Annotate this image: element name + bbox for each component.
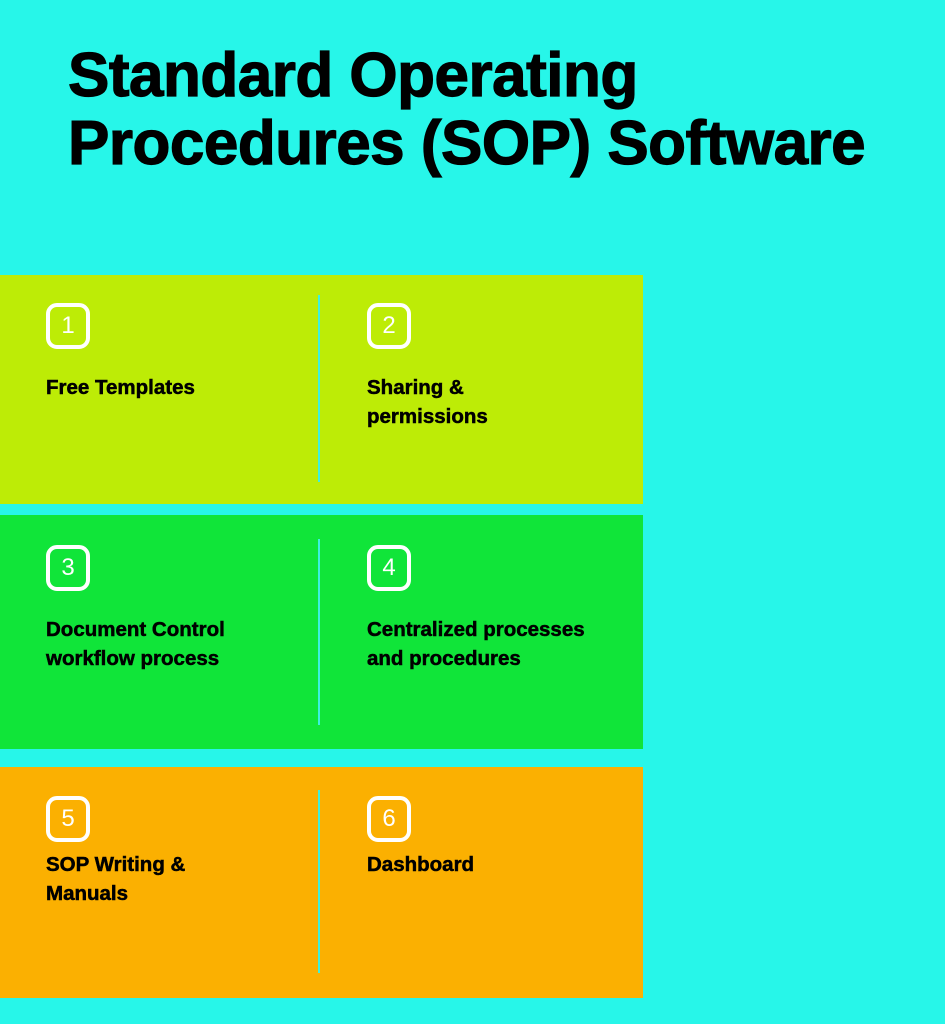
feature-label: SOP Writing &Manuals (46, 850, 316, 908)
feature-band-1: 1 Free Templates 2 Sharing &permissions (0, 275, 643, 504)
feature-label: Sharing &permissions (367, 373, 637, 431)
number-badge-icon: 6 (367, 796, 411, 842)
badge-number: 5 (61, 807, 74, 831)
column-divider (318, 790, 320, 973)
feature-band-3: 5 SOP Writing &Manuals 6 Dashboard (0, 767, 643, 998)
feature-item-4[interactable]: 4 Centralized processesand procedures (367, 545, 637, 673)
badge-number: 2 (382, 314, 395, 338)
feature-item-6[interactable]: 6 Dashboard (367, 796, 637, 879)
feature-item-2[interactable]: 2 Sharing &permissions (367, 303, 637, 431)
page-title-line-1: Standard Operating (68, 42, 908, 110)
badge-number: 1 (61, 314, 74, 338)
badge-number: 6 (382, 807, 395, 831)
column-divider (318, 295, 320, 482)
feature-band-2: 3 Document Controlworkflow process 4 Cen… (0, 515, 643, 749)
number-badge-icon: 2 (367, 303, 411, 349)
badge-number: 3 (61, 556, 74, 580)
number-badge-icon: 1 (46, 303, 90, 349)
feature-item-5[interactable]: 5 SOP Writing &Manuals (46, 796, 316, 908)
feature-label: Dashboard (367, 850, 637, 879)
feature-item-1[interactable]: 1 Free Templates (46, 303, 316, 402)
infographic-canvas: Standard Operating Procedures (SOP) Soft… (0, 0, 945, 1024)
column-divider (318, 539, 320, 725)
number-badge-icon: 5 (46, 796, 90, 842)
feature-item-3[interactable]: 3 Document Controlworkflow process (46, 545, 316, 673)
feature-label: Centralized processesand procedures (367, 615, 637, 673)
badge-number: 4 (382, 556, 395, 580)
feature-label: Free Templates (46, 373, 316, 402)
page-title: Standard Operating Procedures (SOP) Soft… (68, 42, 908, 178)
number-badge-icon: 3 (46, 545, 90, 591)
page-title-line-2: Procedures (SOP) Software (68, 110, 908, 178)
feature-label: Document Controlworkflow process (46, 615, 316, 673)
number-badge-icon: 4 (367, 545, 411, 591)
